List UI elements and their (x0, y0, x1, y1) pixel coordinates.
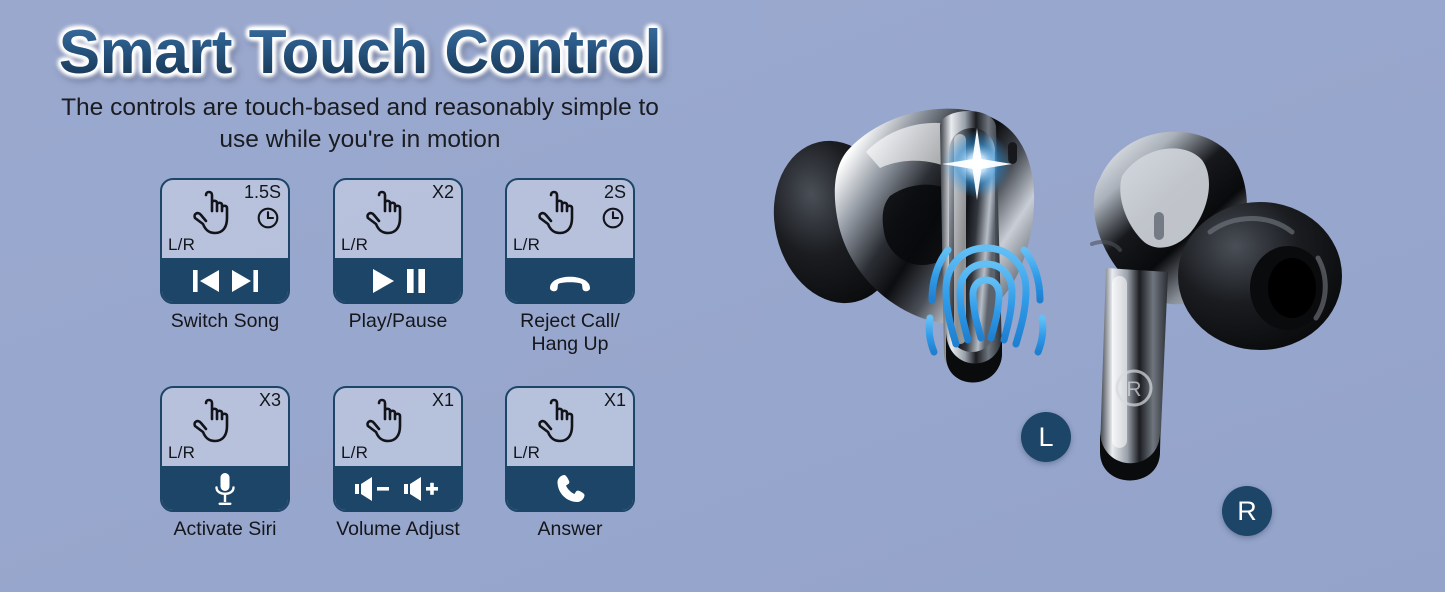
tap-hand-icon (536, 394, 582, 444)
tap-count-label: X2 (432, 182, 454, 203)
volume-down-icon (354, 476, 394, 502)
ear-side-label: L/R (168, 443, 195, 463)
card-caption: Activate Siri (138, 518, 312, 541)
ear-side-label: L/R (513, 235, 540, 255)
tap-duration-label: 1.5S (244, 182, 281, 203)
control-row-2: X3 L/R Activate Siri (150, 386, 650, 592)
info-panel: Smart Touch Control The controls are tou… (0, 0, 720, 592)
control-card-volume-adjust[interactable]: X1 L/R (333, 386, 463, 512)
tap-hand-icon (364, 186, 410, 236)
control-card-play-pause[interactable]: X2 L/R Play/Pau (333, 178, 463, 304)
ear-tip (1178, 202, 1342, 350)
smart-touch-control-banner: Smart Touch Control The controls are tou… (0, 0, 1445, 592)
tap-count-label: X3 (259, 390, 281, 411)
card-action-panel (335, 466, 461, 512)
clock-icon (601, 206, 625, 230)
card-action-panel (335, 258, 461, 304)
right-earbud-badge: R (1222, 486, 1272, 536)
card-top-panel: 1.5S L/R (162, 180, 288, 258)
volume-up-icon (403, 476, 443, 502)
product-image: R L R (740, 0, 1445, 592)
card-top-panel: X3 L/R (162, 388, 288, 466)
card-caption: Volume Adjust (311, 518, 485, 541)
tap-count-label: X1 (432, 390, 454, 411)
play-icon (370, 267, 396, 295)
ear-side-label: L/R (513, 443, 540, 463)
previous-track-icon (191, 268, 221, 294)
left-earbud (758, 109, 1043, 383)
right-earbud: R (1092, 132, 1342, 481)
card-top-panel: X2 L/R (335, 180, 461, 258)
card-caption: Reject Call/Hang Up (483, 310, 657, 356)
card-action-panel (162, 466, 288, 512)
control-card-grid: 1.5S L/R (150, 178, 650, 592)
tap-count-label: X1 (604, 390, 626, 411)
page-subtitle: The controls are touch-based and reasona… (60, 92, 660, 157)
tap-duration-label: 2S (604, 182, 626, 203)
tap-hand-icon (536, 186, 582, 236)
card-caption: Switch Song (138, 310, 312, 333)
left-earbud-badge: L (1021, 412, 1071, 462)
control-card-switch-song[interactable]: 1.5S L/R (160, 178, 290, 304)
card-action-panel (507, 258, 633, 304)
tap-hand-icon (191, 394, 237, 444)
ear-side-label: L/R (168, 235, 195, 255)
card-top-panel: X1 L/R (507, 388, 633, 466)
tap-hand-icon (191, 186, 237, 236)
microphone-icon (214, 472, 236, 506)
earbuds-illustration: R (740, 0, 1445, 592)
pause-icon (405, 267, 427, 295)
card-top-panel: X1 L/R (335, 388, 461, 466)
card-action-panel (162, 258, 288, 304)
svg-text:R: R (1126, 378, 1141, 401)
control-card-activate-siri[interactable]: X3 L/R Activate Siri (160, 386, 290, 512)
control-row-1: 1.5S L/R (150, 178, 650, 386)
card-caption: Play/Pause (311, 310, 485, 333)
next-track-icon (230, 268, 260, 294)
clock-icon (256, 206, 280, 230)
hang-up-icon (547, 269, 593, 293)
phone-answer-icon (555, 473, 585, 505)
page-title: Smart Touch Control (0, 22, 720, 84)
card-caption: Answer (483, 518, 657, 541)
card-top-panel: 2S L/R (507, 180, 633, 258)
ear-side-label: L/R (341, 443, 368, 463)
tap-hand-icon (364, 394, 410, 444)
control-card-answer[interactable]: X1 L/R Answer (505, 386, 635, 512)
ear-side-label: L/R (341, 235, 368, 255)
card-action-panel (507, 466, 633, 512)
control-card-reject-call[interactable]: 2S L/R Reject C (505, 178, 635, 304)
